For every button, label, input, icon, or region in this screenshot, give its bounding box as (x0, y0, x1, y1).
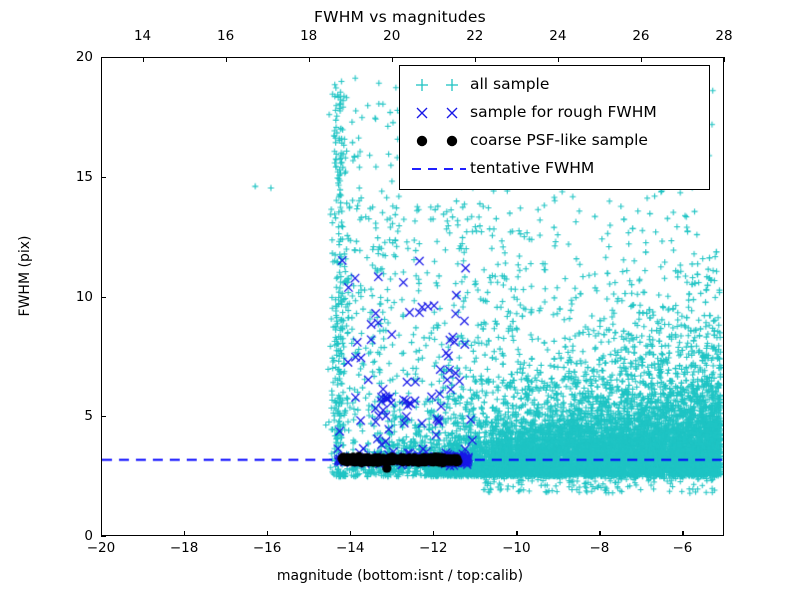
top-tick-mark (226, 57, 227, 62)
legend-item-label: sample for rough FWHM (470, 105, 657, 121)
bottom-tick-mark (267, 531, 268, 536)
bottom-tick-label: −8 (589, 540, 609, 556)
bottom-tick-mark (433, 531, 434, 536)
cross-marker (408, 102, 470, 124)
bottom-tick-mark (682, 531, 683, 536)
bottom-tick-label: −16 (253, 540, 282, 556)
bottom-tick-mark (516, 531, 517, 536)
top-tick-mark (641, 57, 642, 62)
bottom-tick-label: −6 (673, 540, 693, 556)
left-tick-label: 10 (51, 289, 93, 305)
top-tick-label: 22 (466, 28, 483, 44)
top-tick-label: 18 (300, 28, 317, 44)
left-tick-mark (101, 297, 106, 298)
bottom-tick-label: −12 (419, 540, 448, 556)
left-tick-label: 20 (51, 49, 93, 65)
chart-title: FWHM vs magnitudes (0, 8, 800, 26)
left-tick-mark (101, 57, 106, 58)
bottom-tick-mark (350, 531, 351, 536)
legend-item[interactable]: coarse PSF-like sample (408, 127, 701, 155)
y-axis-label: FWHM (pix) (17, 146, 33, 406)
top-tick-label: 24 (549, 28, 566, 44)
legend-item-label: coarse PSF-like sample (470, 133, 648, 149)
bottom-tick-label: −10 (502, 540, 531, 556)
top-tick-label: 26 (632, 28, 649, 44)
top-tick-label: 16 (217, 28, 234, 44)
legend-box: all samplesample for rough FWHMcoarse PS… (399, 65, 710, 190)
dashed-line-marker (408, 158, 470, 180)
bottom-tick-mark (599, 531, 600, 536)
legend-item-label: all sample (470, 77, 549, 93)
left-tick-label: 15 (51, 169, 93, 185)
top-tick-label: 28 (715, 28, 732, 44)
left-tick-mark (101, 177, 106, 178)
legend-item[interactable]: sample for rough FWHM (408, 99, 701, 127)
top-tick-mark (724, 57, 725, 62)
top-tick-label: 14 (134, 28, 151, 44)
top-tick-mark (143, 57, 144, 62)
x-axis-label: magnitude (bottom:isnt / top:calib) (0, 568, 800, 584)
legend-item-label: tentative FWHM (470, 161, 594, 177)
figure-canvas: FWHM vs magnitudes 1416182022242628 −20−… (0, 0, 800, 600)
legend-item[interactable]: all sample (408, 71, 701, 99)
left-tick-label: 0 (51, 528, 93, 544)
plus-marker (408, 74, 470, 96)
left-tick-label: 5 (51, 408, 93, 424)
bottom-tick-label: −18 (170, 540, 199, 556)
top-tick-mark (475, 57, 476, 62)
top-tick-mark (392, 57, 393, 62)
bottom-tick-label: −14 (336, 540, 365, 556)
top-tick-mark (558, 57, 559, 62)
top-tick-mark (309, 57, 310, 62)
bottom-tick-mark (184, 531, 185, 536)
left-tick-mark (101, 536, 106, 537)
top-tick-label: 20 (383, 28, 400, 44)
left-tick-mark (101, 416, 106, 417)
legend-item[interactable]: tentative FWHM (408, 155, 701, 183)
dot-marker (408, 130, 470, 152)
